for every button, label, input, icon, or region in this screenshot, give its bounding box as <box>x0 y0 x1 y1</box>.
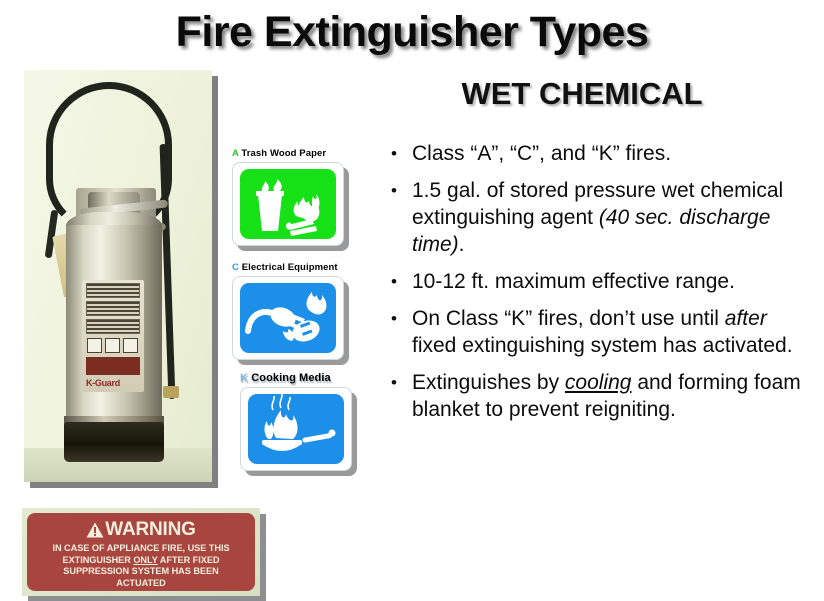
cylinder-base <box>64 422 164 462</box>
warning-line: IN CASE OF APPLIANCE FIRE, USE THIS <box>33 543 249 555</box>
pictogram-icon <box>105 338 120 353</box>
label-line <box>86 301 140 316</box>
class-letter-c: C <box>232 262 239 273</box>
class-letter-a: A <box>232 148 239 159</box>
list-item: • Extinguishes by cooling and forming fo… <box>386 369 806 423</box>
list-item: • 10-12 ft. maximum effective range. <box>386 268 806 295</box>
class-icon-card-c: C Electrical Equipment <box>232 262 350 360</box>
bullet-marker: • <box>386 140 412 167</box>
label-line <box>86 319 140 334</box>
cylinder-instruction-label: K-Guard <box>82 280 144 392</box>
pictogram-icon <box>123 338 138 353</box>
warning-placard: WARNING IN CASE OF APPLIANCE FIRE, USE T… <box>27 513 255 591</box>
class-caption-a: A Trash Wood Paper <box>232 148 350 159</box>
bullet-text: 10-12 ft. maximum effective range. <box>412 268 806 295</box>
bullet-marker: • <box>386 305 412 332</box>
class-caption-text-c: Electrical Equipment <box>242 262 338 273</box>
warning-heading: WARNING <box>33 519 249 540</box>
class-icon-frame-a <box>232 162 344 246</box>
label-warning-band <box>86 357 140 375</box>
class-caption-text-k: Cooking Media <box>251 372 331 384</box>
warning-line: SUPPRESSION SYSTEM HAS BEEN <box>33 566 249 578</box>
warning-body: IN CASE OF APPLIANCE FIRE, USE THIS EXTI… <box>33 543 249 589</box>
class-icon-frame-c <box>232 276 344 360</box>
list-item: • 1.5 gal. of stored pressure wet chemic… <box>386 177 806 258</box>
label-pictogram-row <box>87 338 139 353</box>
warning-line: EXTINGUISHER ONLY AFTER FIXED <box>33 555 249 567</box>
class-caption-text-a: Trash Wood Paper <box>241 148 326 159</box>
bullet-text: Class “A”, “C”, and “K” fires. <box>412 140 806 167</box>
class-caption-c: C Electrical Equipment <box>232 262 350 273</box>
class-caption-k: K Cooking Media <box>240 372 358 384</box>
bullet-marker: • <box>386 369 412 396</box>
warning-label-photo: WARNING IN CASE OF APPLIANCE FIRE, USE T… <box>22 508 260 596</box>
extinguisher-photo: K-Guard <box>24 70 212 482</box>
list-item: • On Class “K” fires, don’t use until af… <box>386 305 806 359</box>
warning-line: ACTUATED <box>33 578 249 590</box>
bullet-list: • Class “A”, “C”, and “K” fires. • 1.5 g… <box>386 140 806 433</box>
class-icon-card-k: K Cooking Media <box>240 372 358 471</box>
pictogram-icon <box>87 338 102 353</box>
burning-frying-pan-icon <box>248 394 344 464</box>
class-letter-k: K <box>240 372 248 384</box>
electrical-plug-and-outlet-icon <box>240 283 336 353</box>
trash-can-and-burning-wood-icon <box>240 169 336 239</box>
bullet-marker: • <box>386 268 412 295</box>
brand-label: K-Guard <box>86 378 140 388</box>
bullet-text: On Class “K” fires, don’t use until afte… <box>412 305 806 359</box>
hose-nozzle <box>163 386 179 398</box>
warning-triangle-icon <box>86 522 104 538</box>
bullet-text: Extinguishes by cooling and forming foam… <box>412 369 806 423</box>
class-icon-frame-k <box>240 387 352 471</box>
list-item: • Class “A”, “C”, and “K” fires. <box>386 140 806 167</box>
label-line <box>86 283 140 298</box>
bullet-marker: • <box>386 177 412 204</box>
warning-heading-text: WARNING <box>105 519 195 540</box>
page-title: Fire Extinguisher Types <box>0 8 824 57</box>
class-icon-card-a: A Trash Wood Paper <box>232 148 350 246</box>
bullet-text: 1.5 gal. of stored pressure wet chemical… <box>412 177 806 258</box>
slide-subtitle: WET CHEMICAL <box>382 76 782 112</box>
